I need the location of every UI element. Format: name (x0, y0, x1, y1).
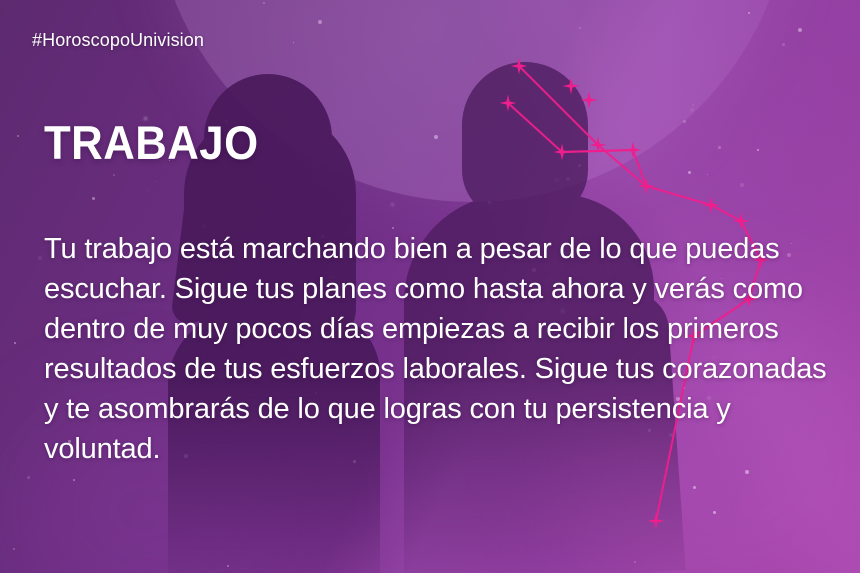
horoscope-card: #HoroscopoUnivision TRABAJO Tu trabajo e… (0, 0, 860, 573)
hashtag-label: #HoroscopoUnivision (32, 30, 204, 51)
horoscope-body-text: Tu trabajo está marchando bien a pesar d… (44, 229, 834, 469)
page-title: TRABAJO (44, 119, 259, 166)
